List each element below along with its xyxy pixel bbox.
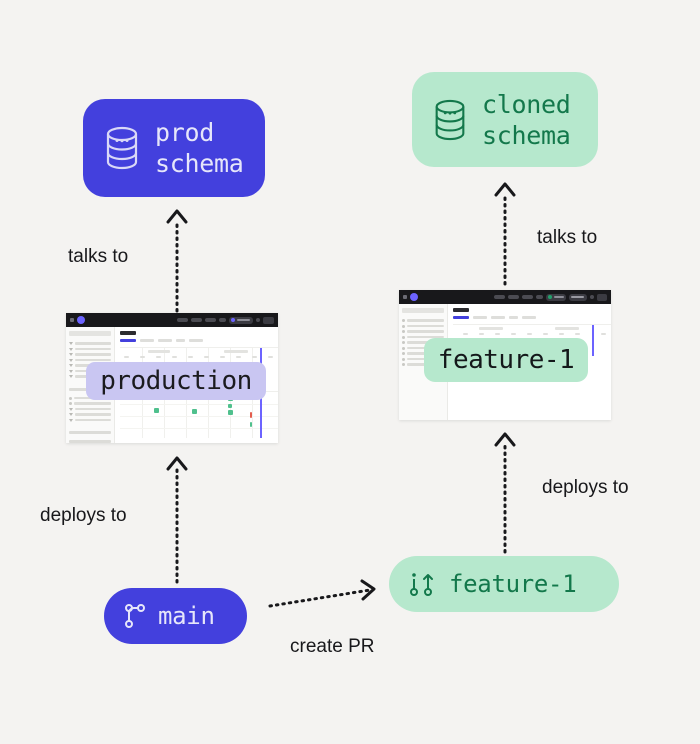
axis-tick-label: [479, 333, 484, 335]
axis-tick-label: [172, 356, 177, 358]
axis-tick-label: [527, 333, 532, 335]
mockup-tabs[interactable]: [120, 339, 278, 342]
scatter-marker[interactable]: [154, 408, 159, 413]
sidebar-item-label: [407, 330, 444, 333]
mockup-page-title: [453, 308, 469, 312]
sidebar-tree-item[interactable]: [69, 413, 111, 416]
bullet-icon: [69, 397, 72, 400]
sidebar-divider: [69, 424, 111, 431]
sidebar-item-label: [407, 325, 444, 328]
sidebar-tree-item[interactable]: [402, 330, 444, 333]
database-icon: [101, 124, 143, 172]
bullet-icon: [402, 319, 405, 322]
timeline-group-header: [224, 350, 248, 353]
sidebar-item-label: [75, 408, 111, 411]
sidebar-item-label: [74, 402, 111, 405]
axis-tick-label: [559, 333, 564, 335]
topbar-nav-item[interactable]: [177, 318, 188, 322]
mockup-tab[interactable]: [189, 339, 203, 342]
node-prod-schema[interactable]: prod schema: [83, 99, 265, 197]
axis-tick-label: [140, 356, 145, 358]
avatar[interactable]: [597, 294, 607, 301]
topbar-nav-item[interactable]: [494, 295, 505, 299]
app-logo-icon: [410, 293, 418, 301]
timeline-group-header: [555, 327, 579, 330]
axis-tick-label: [463, 333, 468, 335]
edge-label-create-pr: create PR: [290, 636, 374, 658]
chevron-down-icon[interactable]: [69, 353, 73, 356]
arrow-talks-to-left: [160, 205, 194, 313]
scatter-marker-alert[interactable]: [250, 412, 252, 418]
axis-tick-label: [124, 356, 129, 358]
sidebar-tree-item[interactable]: [69, 402, 111, 405]
axis-tick-label: [575, 333, 580, 335]
sidebar-footer-item[interactable]: [69, 431, 111, 434]
bullet-icon: [402, 347, 405, 350]
database-icon: [430, 97, 470, 143]
topbar-nav-item[interactable]: [219, 318, 226, 322]
mockup-tabs[interactable]: [453, 316, 611, 319]
overlay-tag-feature: feature-1: [424, 338, 588, 382]
node-cloned-schema-label: cloned schema: [482, 89, 571, 151]
row-divider: [120, 416, 278, 417]
sidebar-project-select[interactable]: [69, 331, 111, 336]
environment-name: [237, 319, 250, 321]
edge-label-talks-to-left: talks to: [68, 246, 128, 268]
mockup-topbar: [66, 313, 278, 327]
bullet-icon: [402, 358, 405, 361]
axis-tick-label: [236, 356, 241, 358]
mockup-tab[interactable]: [491, 316, 505, 319]
row-divider: [120, 404, 278, 405]
axis-tick-label: [511, 333, 516, 335]
mockup-tab-active[interactable]: [453, 316, 469, 319]
mockup-tab-active[interactable]: [120, 339, 136, 342]
chevron-down-icon[interactable]: [69, 370, 73, 373]
bullet-icon: [402, 325, 405, 328]
arrow-deploys-to-left: [160, 452, 194, 584]
bullet-icon: [402, 352, 405, 355]
sidebar-tree-item[interactable]: [69, 419, 111, 422]
chevron-down-icon[interactable]: [590, 295, 594, 299]
axis-tick-label: [601, 333, 606, 335]
bullet-icon: [402, 363, 405, 366]
sidebar-item-label: [407, 319, 444, 322]
arrow-talks-to-right: [488, 178, 522, 286]
axis-tick-label: [188, 356, 193, 358]
node-main-branch-label: main: [158, 602, 215, 630]
node-cloned-schema[interactable]: cloned schema: [412, 72, 598, 167]
mockup-tab[interactable]: [522, 316, 536, 319]
mockup-tab[interactable]: [509, 316, 518, 319]
sidebar-item-label: [75, 413, 111, 416]
menu-icon[interactable]: [403, 295, 407, 299]
bullet-icon: [402, 341, 405, 344]
bullet-icon: [402, 330, 405, 333]
chevron-down-icon[interactable]: [256, 318, 260, 322]
node-prod-schema-label: prod schema: [155, 117, 244, 179]
axis-tick-label: [220, 356, 225, 358]
node-main-branch[interactable]: main: [104, 588, 247, 644]
axis-tick-label: [543, 333, 548, 335]
chevron-down-icon[interactable]: [69, 359, 73, 362]
topbar-nav-item[interactable]: [522, 295, 533, 299]
branch-name: [571, 296, 584, 298]
chevron-down-icon[interactable]: [69, 419, 73, 422]
sidebar-tree-item[interactable]: [69, 348, 111, 351]
axis-tick-label: [495, 333, 500, 335]
status-dot-icon: [231, 318, 235, 322]
chevron-down-icon[interactable]: [69, 364, 73, 367]
arrow-create-pr: [266, 575, 384, 611]
sidebar-footer-item[interactable]: [69, 440, 111, 443]
status-dot-icon: [548, 295, 552, 299]
row-divider: [120, 428, 278, 429]
axis-tick-label: [268, 356, 273, 358]
sidebar-tree-item[interactable]: [69, 342, 111, 345]
mockup-page-title: [120, 331, 136, 335]
app-logo-icon: [77, 316, 85, 324]
scatter-marker[interactable]: [228, 410, 233, 415]
environment-selector[interactable]: [546, 294, 566, 301]
topbar-nav-item[interactable]: [508, 295, 519, 299]
sidebar-project-select[interactable]: [402, 308, 444, 313]
chevron-down-icon[interactable]: [69, 348, 73, 351]
timeline-group-header: [479, 327, 503, 330]
scatter-marker[interactable]: [228, 404, 232, 408]
mockup-tab[interactable]: [176, 339, 185, 342]
diagram-canvas: prod schema cloned schema main: [0, 0, 700, 744]
avatar[interactable]: [263, 317, 274, 324]
sidebar-tree-item[interactable]: [69, 408, 111, 411]
sidebar-item-label: [75, 348, 111, 351]
environment-selector[interactable]: [229, 317, 253, 324]
chevron-down-icon[interactable]: [69, 408, 73, 411]
topbar-nav-item[interactable]: [205, 318, 216, 322]
scatter-marker[interactable]: [192, 409, 197, 414]
edge-label-deploys-to-right: deploys to: [542, 477, 629, 499]
pull-request-icon: [409, 570, 435, 598]
mockup-tab[interactable]: [473, 316, 487, 319]
sidebar-item-label: [75, 419, 111, 422]
topbar-nav-item[interactable]: [191, 318, 202, 322]
bullet-icon: [402, 336, 405, 339]
sidebar-item-label: [75, 359, 111, 362]
overlay-tag-production: production: [86, 362, 266, 400]
sidebar-item-label: [75, 353, 111, 356]
edge-label-talks-to-right: talks to: [537, 227, 597, 249]
scatter-marker[interactable]: [250, 422, 252, 427]
menu-icon[interactable]: [70, 318, 74, 322]
sidebar-tree-item[interactable]: [402, 325, 444, 328]
chevron-down-icon[interactable]: [69, 375, 73, 378]
environment-name: [554, 296, 564, 298]
mockup-tab[interactable]: [158, 339, 172, 342]
node-feature-branch[interactable]: feature-1: [389, 556, 619, 612]
axis-tick-label: [156, 356, 161, 358]
chevron-down-icon[interactable]: [69, 413, 73, 416]
branch-selector[interactable]: [569, 294, 587, 301]
edge-label-deploys-to-left: deploys to: [40, 505, 127, 527]
bullet-icon: [69, 402, 72, 405]
topbar-nav-item[interactable]: [536, 295, 543, 299]
axis-tick-label: [252, 356, 257, 358]
node-feature-branch-label: feature-1: [449, 570, 576, 598]
timeline-group-header: [148, 350, 170, 353]
arrow-deploys-to-right: [488, 428, 522, 554]
chevron-down-icon[interactable]: [69, 342, 73, 345]
mockup-tab[interactable]: [140, 339, 154, 342]
sidebar-tree-item[interactable]: [402, 319, 444, 322]
axis-tick-label: [204, 356, 209, 358]
mockup-topbar: [399, 290, 611, 304]
sidebar-tree-item[interactable]: [69, 353, 111, 356]
sidebar-item-label: [75, 342, 111, 345]
git-branch-icon: [124, 603, 146, 629]
